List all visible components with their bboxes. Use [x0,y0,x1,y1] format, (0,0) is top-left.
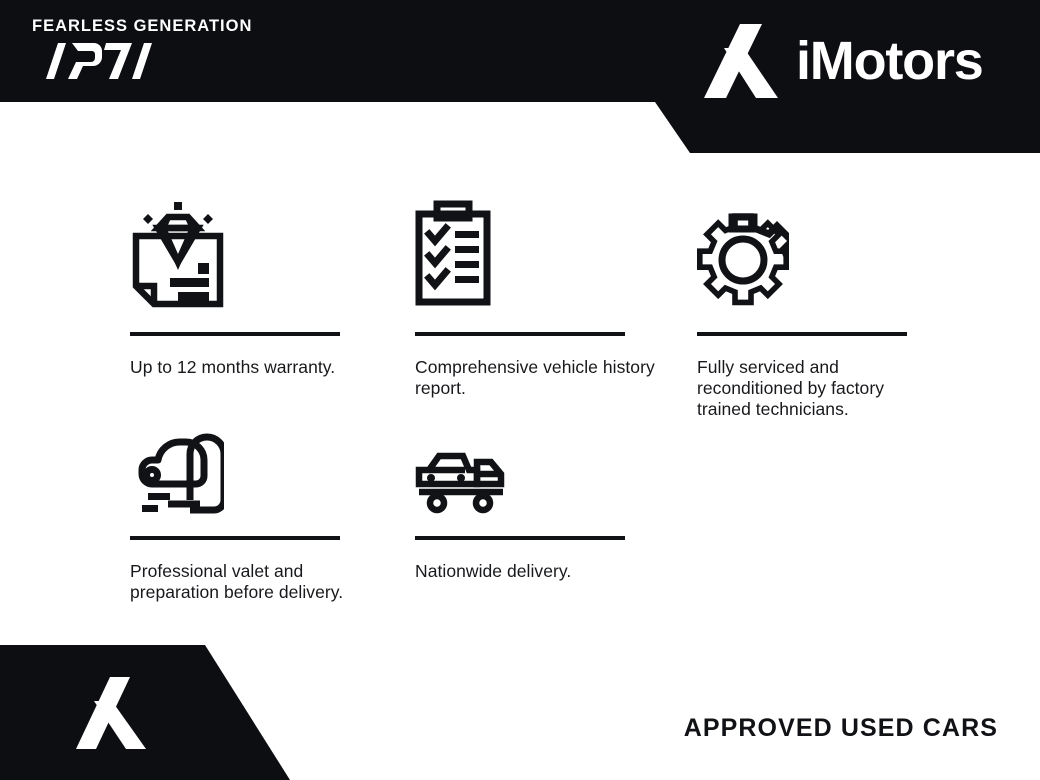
feature-label: Professional valet and preparation befor… [130,561,370,603]
car-transporter-truck-icon [415,389,655,514]
footer-background-shape [0,645,340,780]
feature-divider [415,332,625,336]
feature-label: Up to 12 months warranty. [130,357,370,378]
footer-tagline: APPROVED USED CARS [684,714,998,743]
footer-imotors-chevron-icon [72,677,150,749]
clipboard-checklist-icon [415,185,655,310]
header-tagline: FEARLESS GENERATION [32,18,352,35]
feature-item-delivery: Nationwide delivery. [415,389,655,582]
page-header: FEARLESS GENERATION iMotors [0,0,1040,153]
feature-divider [130,332,340,336]
feature-divider [130,536,340,540]
gear-icon [697,185,937,310]
feature-label: Fully serviced and reconditioned by fact… [697,357,937,421]
feature-divider [415,536,625,540]
year-1971-logo [32,39,152,83]
feature-item-warranty: Up to 12 months warranty. [130,185,370,378]
certificate-diamond-icon [130,185,370,310]
feature-item-valet: Professional valet and preparation befor… [130,389,370,603]
header-background-shape [0,0,1040,153]
imotors-chevron-icon [700,24,782,98]
features-grid: Up to 12 months warranty. [0,153,1040,645]
feature-divider [697,332,907,336]
feature-item-history-report: Comprehensive vehicle history report. [415,185,655,399]
feature-label: Nationwide delivery. [415,561,655,582]
fearless-generation-block: FEARLESS GENERATION [32,18,352,90]
feature-item-serviced: Fully serviced and reconditioned by fact… [697,185,937,421]
brand-name: iMotors [796,34,983,88]
vacuum-cleaner-icon [130,389,370,514]
imotors-brand-lockup: iMotors [700,22,1020,100]
